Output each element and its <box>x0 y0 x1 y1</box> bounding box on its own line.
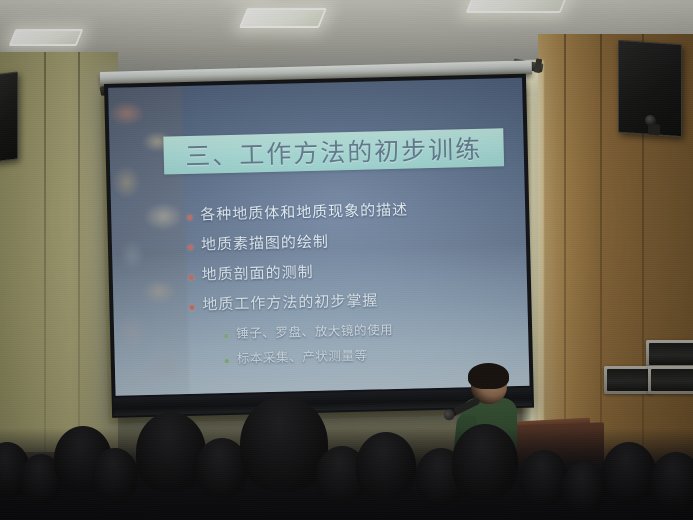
slide-sub-bullet-item: 锤子、罗盘、放大镜的使用 <box>224 316 520 342</box>
audience-head <box>356 432 416 500</box>
slide-sub-bullet-item: 标本采集、产状测量等 <box>224 341 520 367</box>
sub-bullet-dot-icon <box>224 334 228 338</box>
presenter-hair <box>468 363 509 389</box>
slide-bullet-item: 地质素描图的绘制 <box>188 226 518 255</box>
wall-vent <box>646 340 693 368</box>
audience <box>0 390 693 520</box>
slide-sub-bullet-text: 锤子、罗盘、放大镜的使用 <box>236 319 394 342</box>
bullet-dot-icon <box>187 215 192 220</box>
audience-head <box>520 450 568 506</box>
bullet-dot-icon <box>189 275 194 280</box>
slide-bullet-text: 地质工作方法的初步掌握 <box>202 289 378 314</box>
slide-bullet-text: 地质剖面的测制 <box>201 261 313 285</box>
audience-head <box>650 452 693 512</box>
audience-head <box>240 396 328 492</box>
slide-bullet-text: 地质素描图的绘制 <box>201 231 329 255</box>
wall-speaker-left <box>0 71 18 162</box>
audience-head <box>602 442 656 504</box>
audience-head <box>562 462 606 514</box>
sub-bullet-dot-icon <box>225 359 229 363</box>
slide-bullet-item: 地质工作方法的初步掌握 <box>189 286 519 315</box>
presentation-slide: 三、工作方法的初步训练 各种地质体和地质现象的描述 地质素描图的绘制 地质剖面的… <box>108 78 529 396</box>
lecture-hall-photo: 三、工作方法的初步训练 各种地质体和地质现象的描述 地质素描图的绘制 地质剖面的… <box>0 0 693 520</box>
bullet-dot-icon <box>189 305 194 310</box>
vent-grille-icon <box>651 369 693 391</box>
vent-grille-icon <box>649 343 693 365</box>
slide-sub-bullet-text: 标本采集、产状测量等 <box>236 345 367 367</box>
slide-bullet-text: 各种地质体和地质现象的描述 <box>200 199 408 225</box>
audience-head <box>92 448 138 502</box>
vent-grille-icon <box>607 369 649 391</box>
ceiling-light-panel <box>9 29 84 46</box>
ceiling-light-panel <box>466 0 570 13</box>
audience-head <box>452 424 518 500</box>
audience-head <box>136 412 206 492</box>
bullet-dot-icon <box>188 245 193 250</box>
slide-bullet-item: 地质剖面的测制 <box>188 256 518 285</box>
slide-bullet-list: 各种地质体和地质现象的描述 地质素描图的绘制 地质剖面的测制 地质工作方法的初步… <box>187 196 521 374</box>
speaker-mount-bracket <box>648 123 660 135</box>
ceiling-light-panel <box>239 8 327 28</box>
